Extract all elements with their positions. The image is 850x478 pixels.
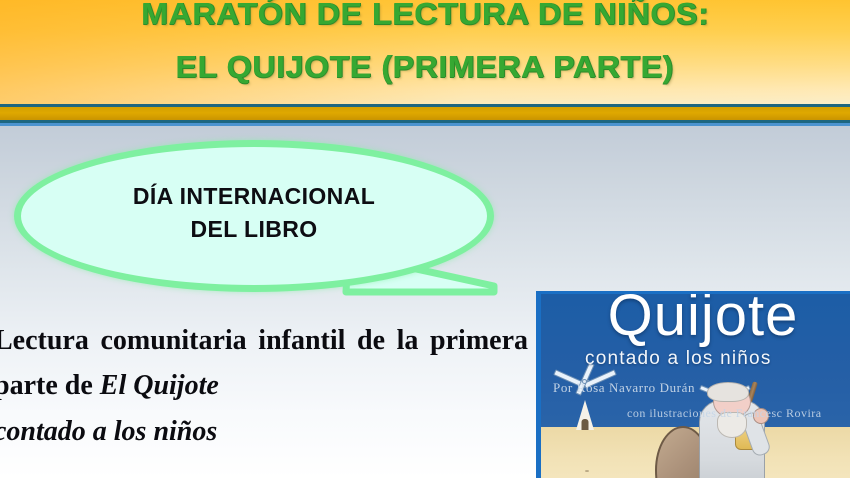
ground-speck: [585, 470, 589, 472]
poster-title-line-2: EL QUIJOTE (PRIMERA PARTE): [176, 51, 674, 82]
description-paragraph: Lectura comunitaria infantil de la prime…: [0, 318, 528, 454]
book-cover-subtitle: contado a los niños: [585, 348, 850, 370]
poster-body: DÍA INTERNACIONAL DEL LIBRO Lectura comu…: [0, 126, 850, 478]
header-title-block: MARATÓN DE LECTURA DE NIÑOS: EL QUIJOTE …: [0, 0, 850, 104]
paragraph-subtitle-italic: contado a los niños: [0, 409, 528, 454]
callout-line-1: DÍA INTERNACIONAL: [133, 183, 375, 210]
poster-slide: MARATÓN DE LECTURA DE NIÑOS: EL QUIJOTE …: [0, 0, 850, 478]
callout-text-block: DÍA INTERNACIONAL DEL LIBRO: [14, 140, 494, 292]
poster-title-line-1: MARATÓN DE LECTURA DE NIÑOS:: [141, 0, 709, 29]
poster-header: MARATÓN DE LECTURA DE NIÑOS: EL QUIJOTE …: [0, 0, 850, 104]
knight-hair: [707, 382, 749, 402]
windmill-door: [582, 419, 589, 430]
callout-bubble: DÍA INTERNACIONAL DEL LIBRO: [14, 140, 494, 292]
paragraph-segment-plain: Lectura comunitaria infantil de la prime…: [0, 325, 528, 401]
callout-line-2: DEL LIBRO: [190, 216, 317, 243]
book-cover-image: Quijote contado a los niños Por Rosa Nav…: [536, 291, 850, 478]
divider-gold-band: [0, 107, 850, 120]
don-quijote-figure: [661, 390, 791, 478]
book-cover-title: Quijote: [557, 291, 849, 349]
paragraph-title-italic: El Quijote: [100, 370, 219, 401]
book-cover-author: Por Rosa Navarro Durán: [553, 380, 695, 396]
book-cover-illustrator: con ilustraciones de Francesc Rovira: [627, 406, 822, 421]
